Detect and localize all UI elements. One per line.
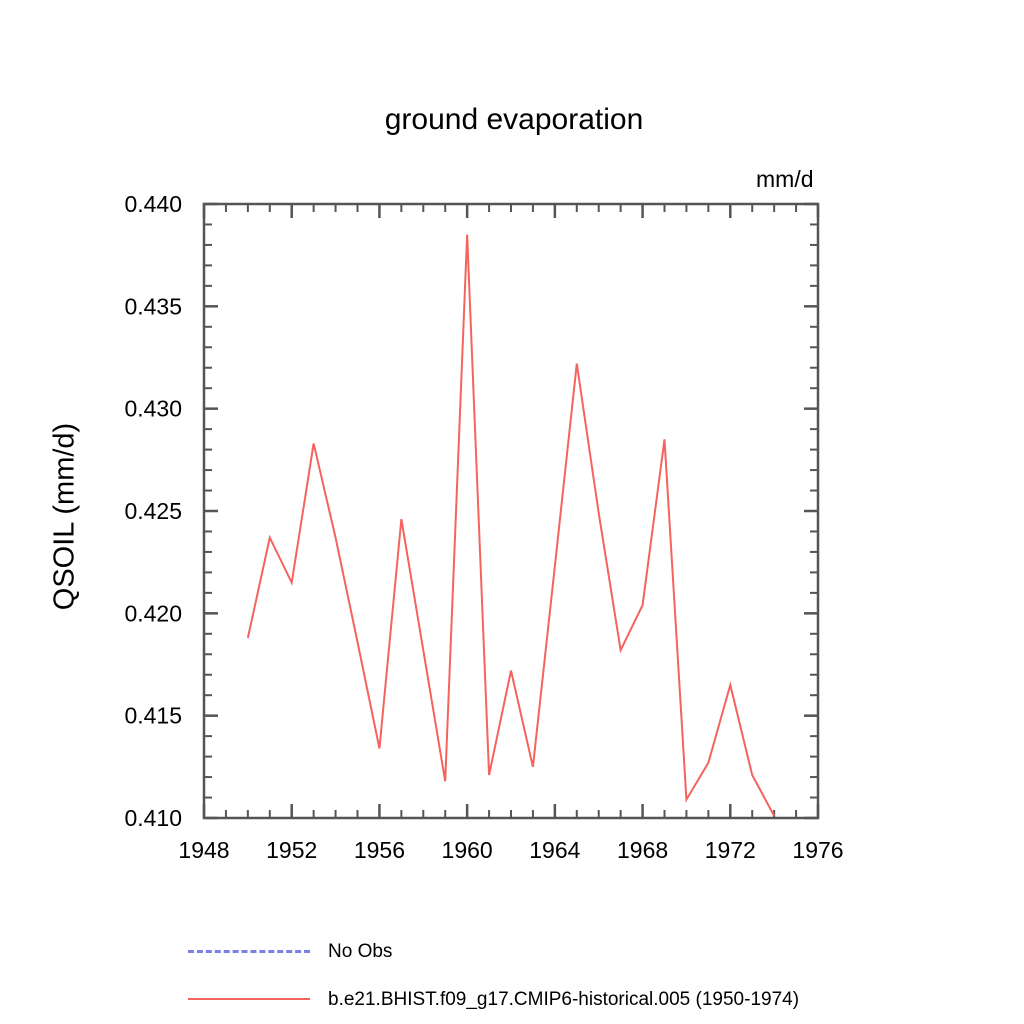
x-tick-label: 1956 [354,837,405,863]
data-series-line [248,235,774,816]
legend-label-series: b.e21.BHIST.f09_g17.CMIP6-historical.005… [328,990,799,1009]
x-axis-tick-labels: 19481952195619601964196819721976 [178,837,843,863]
y-axis-tick-labels: 0.4100.4150.4200.4250.4300.4350.440 [124,191,182,831]
legend-item-no-obs[interactable]: No Obs [188,941,392,961]
chart-canvas: ground evaporation mm/d QSOIL (mm/d) 0.4… [0,0,1024,1024]
y-tick-label: 0.430 [124,396,182,422]
x-tick-label: 1952 [266,837,317,863]
legend-swatch-no-obs [188,950,310,953]
y-tick-label: 0.425 [124,498,182,524]
x-tick-label: 1964 [529,837,580,863]
y-tick-label: 0.440 [124,191,182,217]
x-axis-ticks [204,204,818,818]
y-tick-label: 0.410 [124,805,182,831]
legend-swatch-series [188,998,310,1000]
data-series-layer [248,235,774,816]
y-tick-label: 0.435 [124,293,182,319]
x-tick-label: 1976 [792,837,843,863]
plot-frame [204,204,818,818]
legend-item-series[interactable]: b.e21.BHIST.f09_g17.CMIP6-historical.005… [188,989,799,1009]
plot-area: 0.4100.4150.4200.4250.4300.4350.440 1948… [0,0,1024,1024]
y-axis-ticks [204,204,818,818]
legend-label-no-obs: No Obs [328,942,392,961]
y-tick-label: 0.415 [124,703,182,729]
y-tick-label: 0.420 [124,600,182,626]
x-tick-label: 1972 [705,837,756,863]
x-tick-label: 1960 [442,837,493,863]
x-tick-label: 1968 [617,837,668,863]
x-tick-label: 1948 [178,837,229,863]
